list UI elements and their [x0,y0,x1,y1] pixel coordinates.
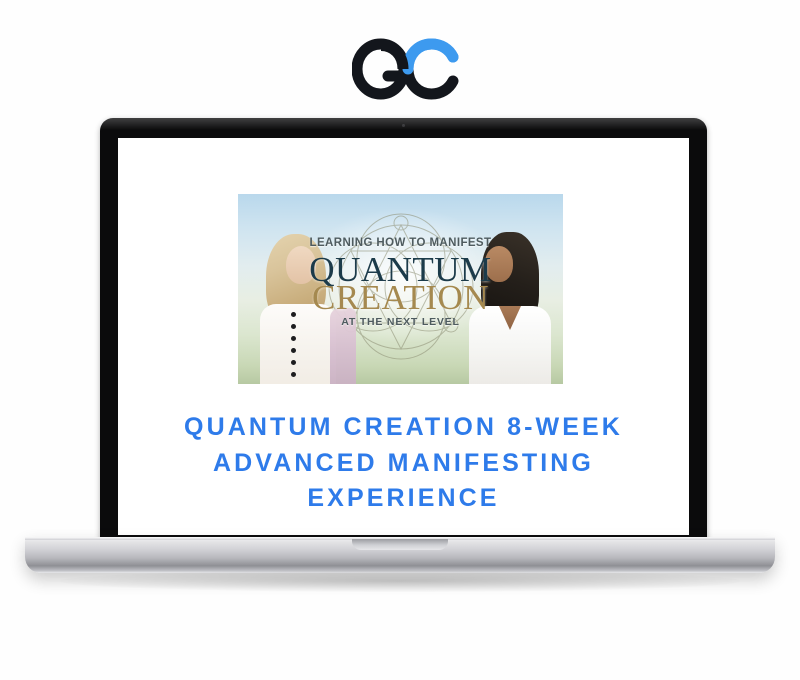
banner-subline: AT THE NEXT LEVEL [287,317,515,328]
laptop-device: LEARNING HOW TO MANIFEST QUANTUM CREATIO… [0,118,800,588]
laptop-drop-shadow [60,570,740,592]
webcam-icon [402,124,405,127]
banner-text-block: LEARNING HOW TO MANIFEST QUANTUM CREATIO… [287,238,515,327]
laptop-screen: LEARNING HOW TO MANIFEST QUANTUM CREATIO… [118,138,689,535]
laptop-base-notch [352,539,448,550]
course-banner-image: LEARNING HOW TO MANIFEST QUANTUM CREATIO… [238,194,563,384]
page-root: LEARNING HOW TO MANIFEST QUANTUM CREATIO… [0,0,800,680]
product-title: Quantum Creation 8-Week Advanced Manifes… [118,410,689,517]
banner-kicker: LEARNING HOW TO MANIFEST [287,238,515,250]
gc-infinity-logo[interactable] [352,38,460,100]
banner-title-creation: CREATION [287,280,515,315]
laptop-base [25,537,775,573]
